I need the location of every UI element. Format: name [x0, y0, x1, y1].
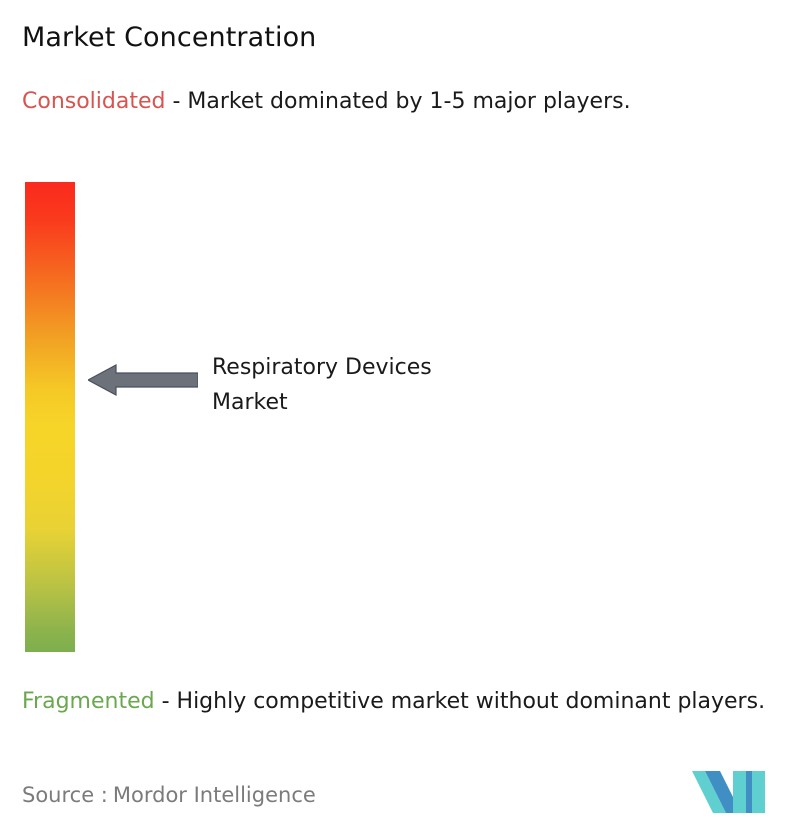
source-label: Source : [22, 783, 108, 807]
concentration-gradient-bar [25, 182, 75, 652]
logo-shape-4 [746, 771, 752, 813]
legend-description-fragmented: - Highly competitive market without domi… [162, 689, 765, 714]
legend-description-consolidated: - Market dominated by 1-5 major players. [172, 89, 630, 114]
market-concentration-chart: Market Concentration Consolidated- Marke… [0, 0, 796, 834]
mordor-intelligence-logo [692, 769, 766, 815]
mi-logo-icon [692, 769, 766, 815]
logo-shape-3 [733, 771, 746, 813]
source-value: Mordor Intelligence [113, 783, 316, 807]
left-arrow-icon [88, 363, 198, 397]
legend-term-fragmented: Fragmented [22, 689, 155, 714]
market-position-arrow [88, 363, 198, 397]
legend-term-consolidated: Consolidated [22, 89, 165, 114]
logo-shape-5 [752, 771, 765, 813]
market-position-label-line2: Market [212, 385, 542, 420]
left-arrow-shape [88, 365, 198, 395]
legend-fragmented: Fragmented- Highly competitive market wi… [22, 686, 782, 717]
source-attribution: Source :Mordor Intelligence [22, 780, 316, 810]
market-position-label: Respiratory Devices Market [212, 350, 542, 420]
page-title: Market Concentration [22, 20, 316, 56]
market-position-label-line1: Respiratory Devices [212, 350, 542, 385]
legend-consolidated: Consolidated- Market dominated by 1-5 ma… [22, 86, 770, 117]
